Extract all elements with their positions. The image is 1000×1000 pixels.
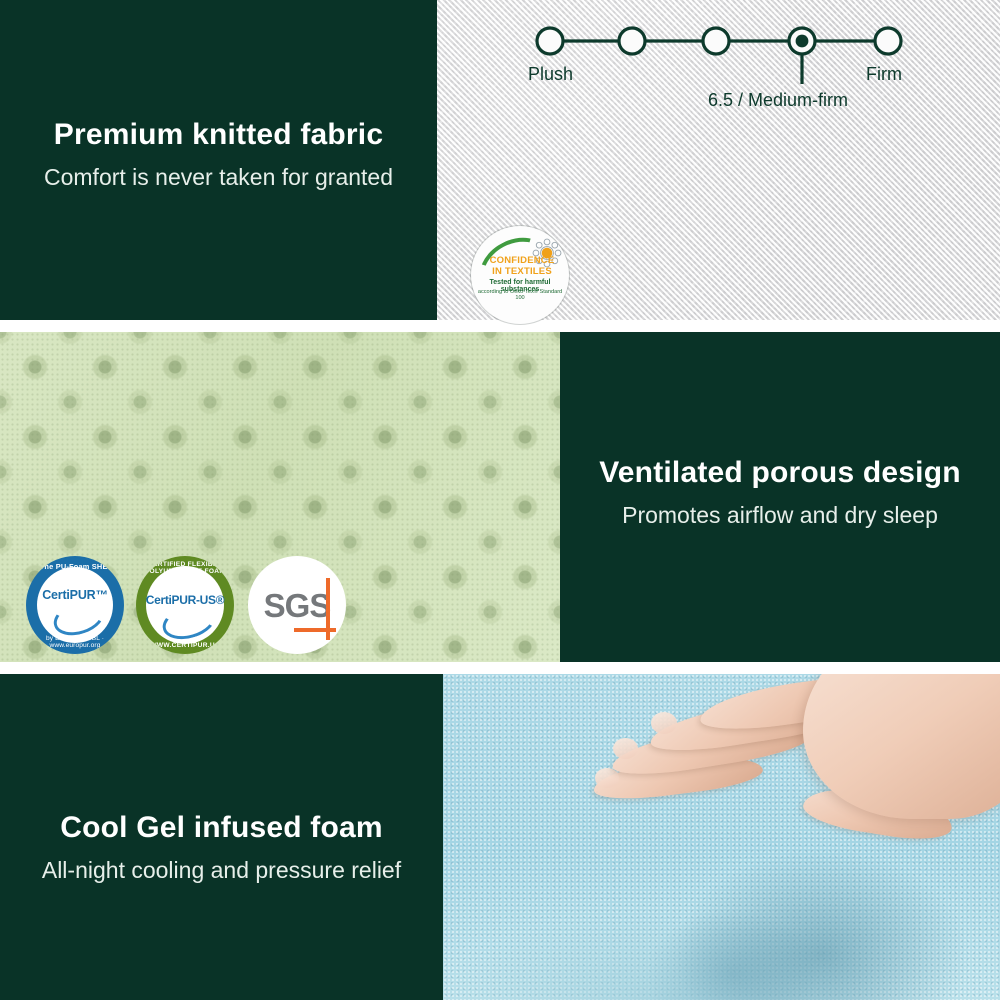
hand-nail-1 [595, 768, 619, 788]
hand-nail-2 [613, 738, 638, 759]
infographic-board: Premium knitted fabric Comfort is never … [0, 0, 1000, 1000]
oeko-tex-line2: IN TEXTILES [485, 266, 559, 277]
panel-2-subheading: Promotes airflow and dry sleep [560, 499, 1000, 531]
panel-2-heading: Ventilated porous design [560, 454, 1000, 492]
firmness-scale[interactable]: Plush Firm 6.5 / Medium-firm [530, 12, 930, 122]
oeko-tex-line4: according to Oeko-Tex® Standard 100 [475, 289, 565, 301]
sgs-badge: SGS [248, 556, 346, 654]
panel-1-subheading: Comfort is never taken for granted [0, 161, 437, 193]
panel-3-subheading: All-night cooling and pressure relief [0, 854, 443, 886]
certipur-us-wordmark: CertiPUR-US® [136, 593, 234, 607]
certification-badges: The PU-Foam SHE-Standard by Europur AISB… [26, 552, 356, 662]
hand-nail-3 [651, 712, 677, 734]
oeko-tex-line1: CONFIDENCE [485, 255, 559, 266]
certipur-us-badge: CERTIFIED FLEXIBLE POLYURETHANE FOAM WWW… [136, 556, 234, 654]
panel-3-heading: Cool Gel infused foam [0, 809, 443, 847]
certipur-wordmark: CertiPUR™ [26, 588, 124, 602]
panel-1-text-block: Premium knitted fabric Comfort is never … [0, 116, 437, 193]
firmness-label-firm: Firm [866, 64, 902, 85]
panel-cool-gel-infused-foam-image [443, 674, 1000, 1000]
panel-3-text-block: Cool Gel infused foam All-night cooling … [0, 809, 443, 886]
panel-cool-gel-infused-foam-text: Cool Gel infused foam All-night cooling … [0, 674, 443, 1000]
panel-ventilated-porous-design-text: Ventilated porous design Promotes airflo… [560, 332, 1000, 662]
oeko-tex-badge: CONFIDENCE IN TEXTILES Tested for harmfu… [471, 226, 569, 324]
firmness-label-plush: Plush [528, 64, 573, 85]
certipur-badge: The PU-Foam SHE-Standard by Europur AISB… [26, 556, 124, 654]
panel-2-text-block: Ventilated porous design Promotes airflo… [560, 454, 1000, 531]
panel-1-heading: Premium knitted fabric [0, 116, 437, 154]
firmness-value-label: 6.5 / Medium-firm [708, 90, 848, 111]
panel-premium-knitted-fabric-text: Premium knitted fabric Comfort is never … [0, 0, 437, 320]
sgs-vertical-bar-icon [326, 578, 330, 640]
sgs-wordmark: SGS [248, 587, 346, 625]
hand-photo [503, 674, 1000, 864]
